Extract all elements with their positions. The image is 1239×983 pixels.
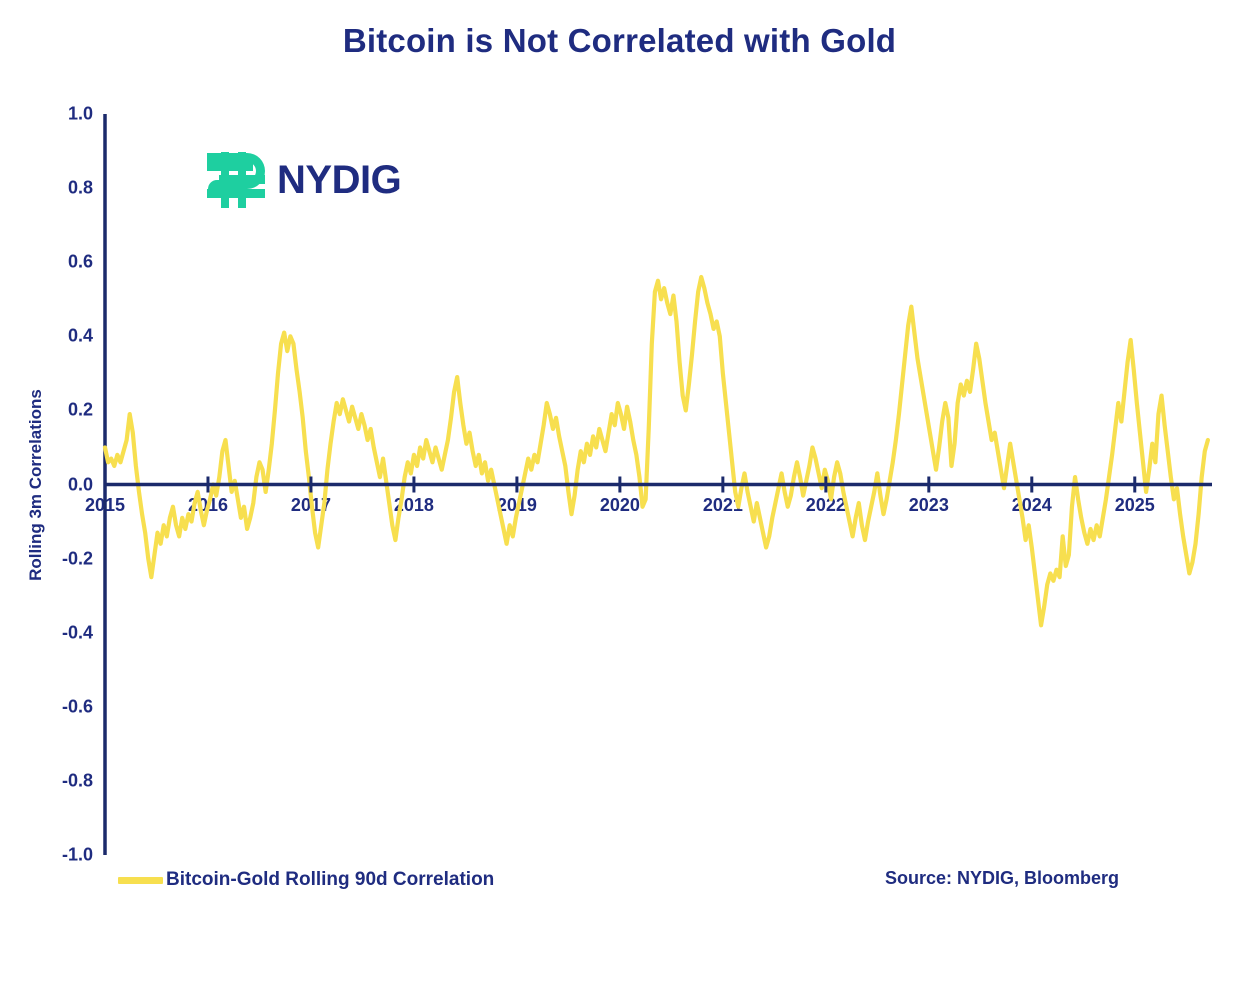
nydig-logo: NYDIG <box>205 152 401 208</box>
chart-legend: Bitcoin-Gold Rolling 90d Correlation <box>118 869 494 891</box>
nydig-logo-text: NYDIG <box>277 158 401 203</box>
source-note: Source: NYDIG, Bloomberg <box>885 868 1119 889</box>
legend-color-swatch <box>118 877 163 884</box>
nydig-bitcoin-mark-icon <box>205 152 267 208</box>
chart-plot-area <box>0 0 1239 983</box>
legend-label: Bitcoin-Gold Rolling 90d Correlation <box>166 869 494 891</box>
chart-container: Rolling 3m Correlations 1.00.80.60.40.20… <box>0 0 1239 983</box>
series-line-bitcoin-gold-correlation <box>105 277 1208 625</box>
